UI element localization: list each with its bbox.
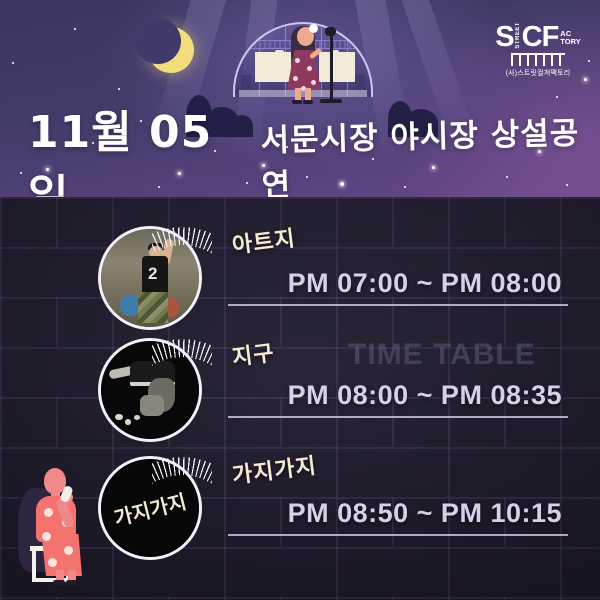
event-date: 11월 05일 (28, 96, 247, 197)
act-time: PM 07:00 ~ PM 08:00 (228, 268, 568, 299)
female-singer-icon (283, 24, 329, 104)
logo-letter-s: S (495, 23, 513, 52)
radiating-dashes-icon (152, 334, 212, 400)
logo-word-tory: TORY (560, 37, 580, 46)
seated-pink-singer-icon (18, 462, 104, 584)
microphone-stand-icon (330, 30, 333, 102)
radiating-dashes-icon (152, 452, 212, 518)
act-thumbnail[interactable] (98, 338, 202, 442)
poster-title: 11월 05일 서문시장 야시장 상설공연 (28, 96, 600, 197)
hair-flower-icon (309, 24, 318, 33)
act-thumbnail[interactable]: 2 (98, 226, 202, 330)
act-time: PM 08:00 ~ PM 08:35 (228, 380, 568, 411)
logo-word-street: STREET (515, 22, 521, 49)
crescent-moon-icon (148, 27, 194, 73)
row-divider (228, 416, 568, 418)
radiating-dashes-icon (152, 222, 212, 288)
act-thumbnail[interactable]: 가지가지 (98, 456, 202, 560)
act-time: PM 08:50 ~ PM 10:15 (228, 498, 568, 529)
event-subtitle: 서문시장 야시장 상설공연 (260, 107, 600, 197)
logo-korean-name: (사)스트릿컬쳐팩토리 (490, 68, 586, 78)
event-poster: S STREET CF AC TORY (사)스트릿컬쳐팩토리 11월 05일 … (0, 0, 600, 600)
poster-header: S STREET CF AC TORY (사)스트릿컬쳐팩토리 11월 05일 … (0, 0, 600, 197)
logo-skyline-icon (511, 53, 565, 66)
row-divider (228, 534, 568, 536)
scf-logo: S STREET CF AC TORY (사)스트릿컬쳐팩토리 (490, 22, 586, 78)
logo-letters-cf: CF (522, 23, 559, 52)
